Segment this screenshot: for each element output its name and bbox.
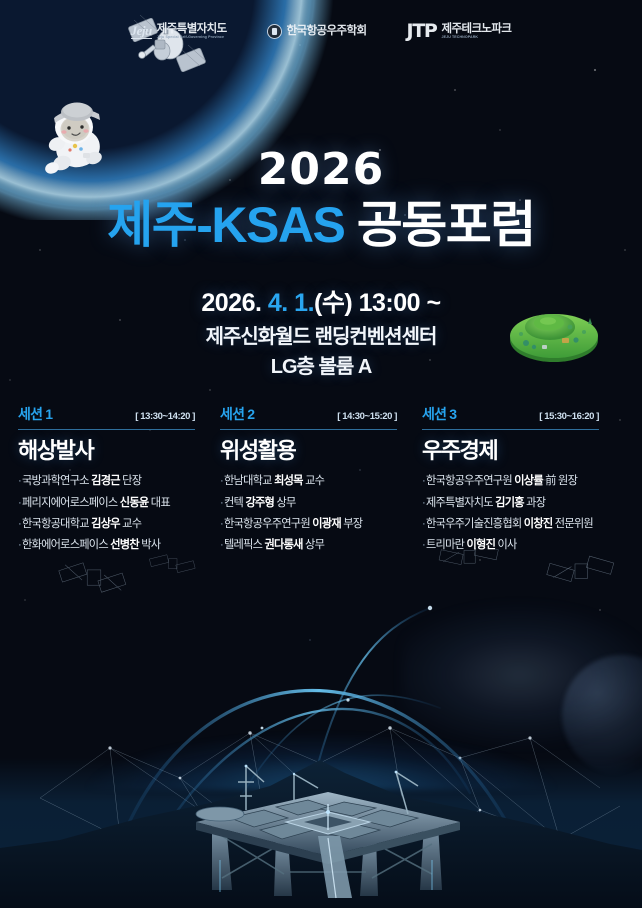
list-item: ·국방과학연구소 김경근 단장 xyxy=(18,475,218,487)
sponsor-logo-bar: Jeju 제주특별자치도 Jeju Special Self-Governing… xyxy=(0,22,642,41)
session-2-time: [ 14:30~15:20 ] xyxy=(337,411,397,422)
logo-jtp-kr: 제주테크노파크 xyxy=(442,23,512,36)
logo-jeju-kr: 제주특별자치도 xyxy=(157,23,227,36)
jtp-wordmark: JTP xyxy=(406,22,436,41)
list-item: ·한국항공우주연구원 이광재 부장 xyxy=(220,518,420,530)
session-3-header: 세션 3 [ 15:30~16:20 ] xyxy=(422,404,599,430)
poster-root: Jeju 제주특별자치도 Jeju Special Self-Governing… xyxy=(0,0,642,908)
event-date-rest: (수) 13:00 ~ xyxy=(314,289,441,317)
logo-ksas-kr: 한국항공우주학회 xyxy=(287,25,367,38)
logo-jtp-text: 제주테크노파크 JEJU TECHNOPARK xyxy=(442,23,512,40)
event-year: 2026 xyxy=(0,148,642,192)
list-item: ·제주특별자치도 김기홍 과장 xyxy=(422,497,622,509)
session-2-speaker-list: ·한남대학교 최성목 교수 ·컨텍 강주형 상무 ·한국항공우주연구원 이광재 … xyxy=(220,475,420,551)
session-2-topic: 위성활용 xyxy=(220,439,420,463)
event-title: 제주-KSAS 공동포럼 xyxy=(0,198,642,253)
list-item: ·한화에어로스페이스 선병찬 박사 xyxy=(18,539,218,551)
session-2: 세션 2 [ 14:30~15:20 ] 위성활용 ·한남대학교 최성목 교수 … xyxy=(220,404,420,560)
session-columns: 세션 1 [ 13:30~14:20 ] 해상발사 ·국방과학연구소 김경근 단… xyxy=(0,404,642,560)
ksas-emblem-icon xyxy=(267,24,282,39)
session-3-number: 세션 3 xyxy=(422,404,456,424)
session-1-number: 세션 1 xyxy=(18,404,52,424)
list-item: ·컨텍 강주형 상무 xyxy=(220,497,420,509)
session-1-topic: 해상발사 xyxy=(18,439,218,463)
list-item: ·한국항공우주연구원 이상률 前 원장 xyxy=(422,475,622,487)
list-item: ·한국항공대학교 김상우 교수 xyxy=(18,518,218,530)
event-title-blue: 제주-KSAS xyxy=(107,197,344,253)
session-1: 세션 1 [ 13:30~14:20 ] 해상발사 ·국방과학연구소 김경근 단… xyxy=(18,404,218,560)
logo-jeju-en: Jeju Special Self-Governing Province xyxy=(157,35,227,40)
logo-ksas-text: 한국항공우주학회 xyxy=(287,25,367,38)
list-item: ·텔레픽스 권다롱새 상무 xyxy=(220,539,420,551)
logo-jeju-text: 제주특별자치도 Jeju Special Self-Governing Prov… xyxy=(157,23,227,40)
session-3: 세션 3 [ 15:30~16:20 ] 우주경제 ·한국항공우주연구원 이상률… xyxy=(422,404,622,560)
offshore-platform-icon xyxy=(168,752,488,900)
logo-ksas: 한국항공우주학회 xyxy=(267,24,367,39)
venue-line-2: LG층 볼룸 A xyxy=(0,352,642,382)
logo-jeju-province: Jeju 제주특별자치도 Jeju Special Self-Governing… xyxy=(131,23,227,40)
event-date: 2026. 4. 1.(수) 13:00 ~ xyxy=(0,283,642,319)
list-item: ·페리지에어로스페이스 신동윤 대표 xyxy=(18,497,218,509)
session-3-time: [ 15:30~16:20 ] xyxy=(539,411,599,422)
event-date-year: 2026. xyxy=(201,289,268,317)
logo-jtp: JTP 제주테크노파크 JEJU TECHNOPARK xyxy=(406,22,511,41)
session-1-time: [ 13:30~14:20 ] xyxy=(135,411,195,422)
session-3-topic: 우주경제 xyxy=(422,439,622,463)
session-1-speaker-list: ·국방과학연구소 김경근 단장 ·페리지에어로스페이스 신동윤 대표 ·한국항공… xyxy=(18,475,218,551)
session-2-number: 세션 2 xyxy=(220,404,254,424)
list-item: ·한국우주기술진흥협회 이창진 전문위원 xyxy=(422,518,622,530)
session-3-speaker-list: ·한국항공우주연구원 이상률 前 원장 ·제주특별자치도 김기홍 과장 ·한국우… xyxy=(422,475,622,551)
event-date-accent: 4. 1. xyxy=(268,289,314,317)
jeju-wordmark: Jeju xyxy=(131,24,152,39)
event-venue: 제주신화월드 랜딩컨벤션센터 LG층 볼룸 A xyxy=(0,322,642,382)
venue-line-1: 제주신화월드 랜딩컨벤션센터 xyxy=(0,322,642,352)
session-1-header: 세션 1 [ 13:30~14:20 ] xyxy=(18,404,195,430)
event-title-white: 공동포럼 xyxy=(344,197,534,253)
title-block: 2026 제주-KSAS 공동포럼 xyxy=(0,148,642,253)
list-item: ·한남대학교 최성목 교수 xyxy=(220,475,420,487)
list-item: ·트리마란 이형진 이사 xyxy=(422,539,622,551)
session-2-header: 세션 2 [ 14:30~15:20 ] xyxy=(220,404,397,430)
logo-jtp-en: JEJU TECHNOPARK xyxy=(442,35,512,40)
satellite-icon xyxy=(112,4,224,96)
